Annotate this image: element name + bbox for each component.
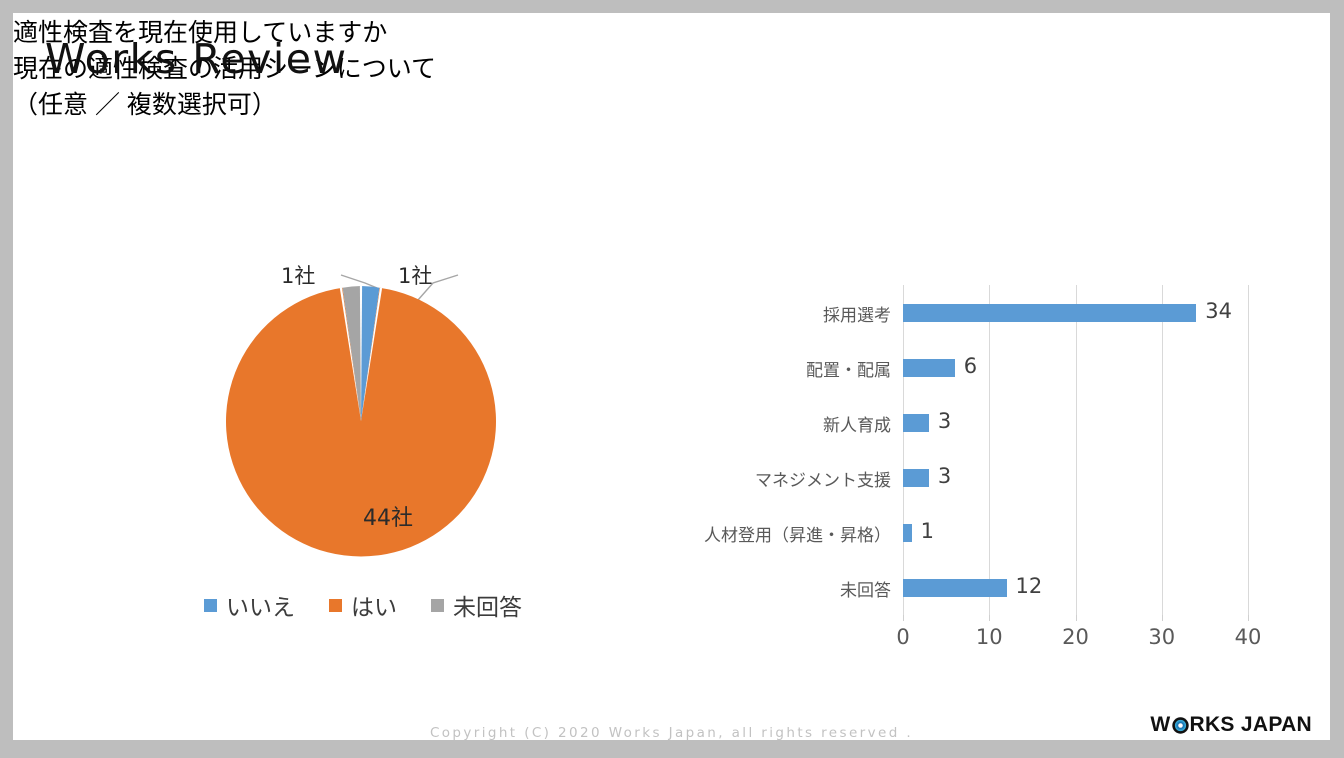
works-japan-logo: W RKS JAPAN xyxy=(1150,713,1312,737)
bar-value-label: 3 xyxy=(938,409,951,433)
bar-value-label: 34 xyxy=(1205,299,1232,323)
pie-label-mikaitou: 1社 xyxy=(281,260,315,290)
bar-value-label: 1 xyxy=(921,519,934,543)
bar-value-label: 3 xyxy=(938,464,951,488)
x-axis-tick-label: 0 xyxy=(896,625,909,649)
tick-mark xyxy=(903,615,904,621)
x-axis-tick-label: 20 xyxy=(1062,625,1089,649)
legend-swatch-icon xyxy=(204,599,217,612)
category-label: 人材登用（昇進・昇格） xyxy=(704,521,891,546)
legend-item-mikaitou: 未回答 xyxy=(431,588,522,622)
value-axis-line xyxy=(903,285,904,615)
tick-mark xyxy=(1162,615,1163,621)
page-title: Works Review xyxy=(45,35,348,83)
bar[interactable] xyxy=(903,359,955,377)
logo-text-before: W xyxy=(1150,713,1170,737)
bar[interactable] xyxy=(903,579,1007,597)
pie-label-hai: 44社 xyxy=(338,500,438,532)
legend-label: いいえ xyxy=(226,588,295,622)
bar-chart-title-line2: （任意 ／ 複数選択可） xyxy=(13,85,633,121)
logo-text-after: RKS JAPAN xyxy=(1190,713,1313,737)
slide-canvas: Works Review 適性検査を現在使用していますか 1社 1社 44社 い… xyxy=(13,13,1330,740)
pie-chart-legend: いいえ はい 未回答 xyxy=(73,588,653,622)
gridline xyxy=(1162,285,1163,615)
x-axis-tick-label: 40 xyxy=(1235,625,1262,649)
tick-mark xyxy=(989,615,990,621)
category-label: マネジメント支援 xyxy=(755,466,891,491)
bar[interactable] xyxy=(903,414,929,432)
category-label: 採用選考 xyxy=(823,301,891,326)
gridline xyxy=(989,285,990,615)
bar-chart: 採用選考配置・配属新人育成マネジメント支援人材登用（昇進・昇格）未回答 0102… xyxy=(683,275,1303,655)
bar-chart-plot-area: 01020304034633112 xyxy=(903,285,1248,615)
legend-label: 未回答 xyxy=(453,588,522,622)
pie-label-iie: 1社 xyxy=(398,260,432,290)
logo-ring-icon xyxy=(1172,717,1189,734)
legend-item-iie: いいえ xyxy=(204,588,295,622)
tick-mark xyxy=(1248,615,1249,621)
x-axis-tick-label: 10 xyxy=(976,625,1003,649)
pie-chart-svg xyxy=(73,253,653,633)
bar[interactable] xyxy=(903,524,912,542)
legend-label: はい xyxy=(351,588,397,622)
bar-chart-category-axis: 採用選考配置・配属新人育成マネジメント支援人材登用（昇進・昇格）未回答 xyxy=(683,285,891,615)
category-label: 配置・配属 xyxy=(806,356,891,381)
bar-value-label: 6 xyxy=(964,354,977,378)
gridline xyxy=(1076,285,1077,615)
tick-mark xyxy=(1076,615,1077,621)
legend-swatch-icon xyxy=(431,599,444,612)
legend-swatch-icon xyxy=(329,599,342,612)
x-axis-tick-label: 30 xyxy=(1148,625,1175,649)
category-label: 未回答 xyxy=(840,576,891,601)
legend-item-hai: はい xyxy=(329,588,397,622)
bar-value-label: 12 xyxy=(1016,574,1043,598)
pie-chart: 1社 1社 44社 xyxy=(73,253,653,633)
gridline xyxy=(1248,285,1249,615)
bar[interactable] xyxy=(903,469,929,487)
footer-copyright: Copyright (C) 2020 Works Japan, all righ… xyxy=(13,725,1330,741)
bar[interactable] xyxy=(903,304,1196,322)
category-label: 新人育成 xyxy=(823,411,891,436)
